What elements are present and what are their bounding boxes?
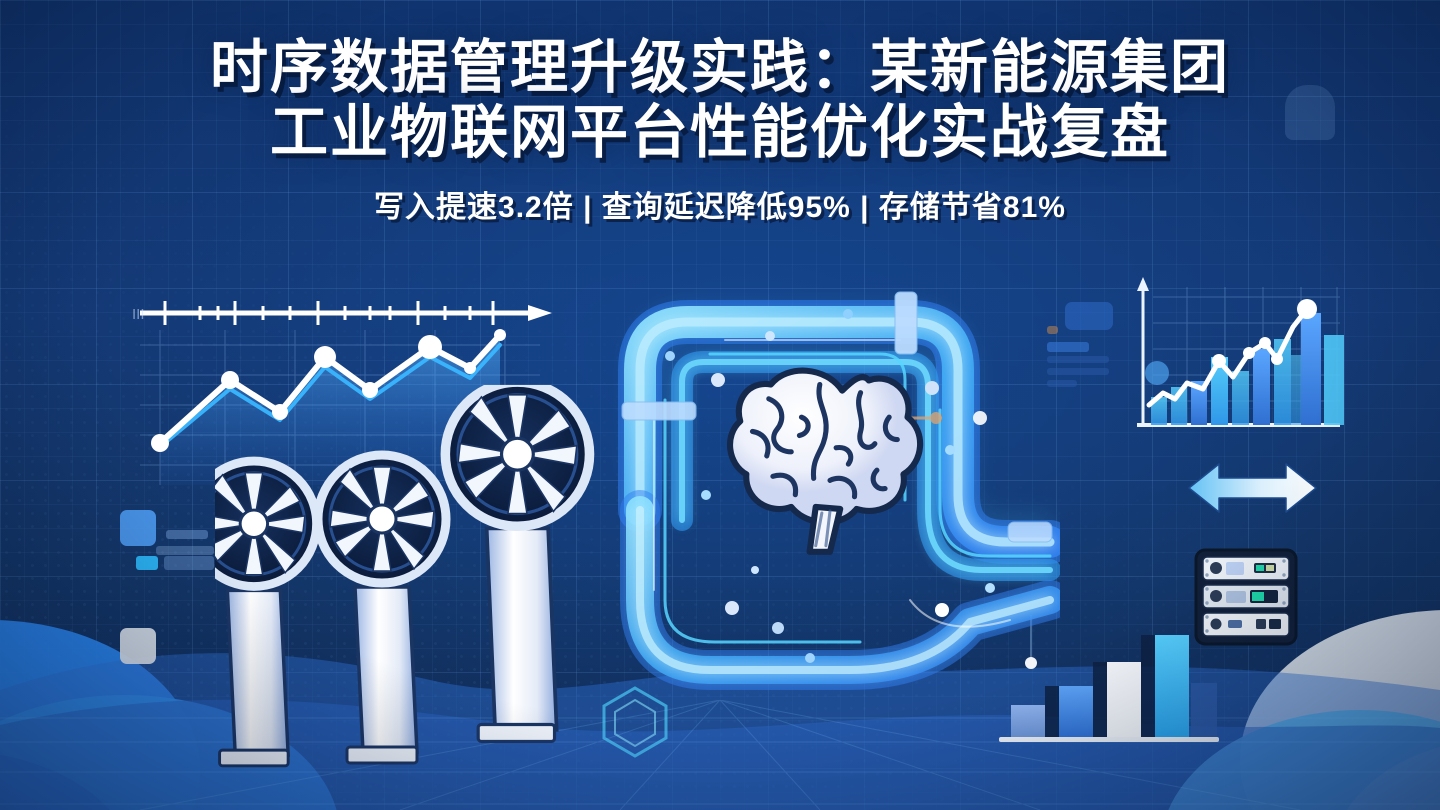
- wind-turbine-group: [215, 385, 635, 770]
- ghost-bar: [166, 530, 208, 539]
- right-combo-chart: [1125, 265, 1395, 450]
- ghost-bar: [156, 546, 214, 555]
- page-title-line-1: 时序数据管理升级实践：某新能源集团: [0, 36, 1440, 101]
- ghost-thumb: [1065, 302, 1113, 330]
- ghost-bar: [164, 556, 214, 570]
- server-unit: [1203, 585, 1289, 608]
- poster-canvas: 时序数据管理升级实践：某新能源集团 工业物联网平台性能优化实战复盘 写入提速3.…: [0, 0, 1440, 810]
- ghost-tile: [120, 510, 156, 546]
- page-title-line-2: 工业物联网平台性能优化实战复盘: [0, 101, 1440, 166]
- bar: [1059, 686, 1093, 737]
- ghost-bar: [136, 556, 158, 570]
- sync-arrow-icon: [1185, 455, 1320, 525]
- hex-glow-decoration: [590, 680, 680, 760]
- server-unit: [1203, 557, 1289, 580]
- bar: [1107, 662, 1141, 737]
- left-chart-axis: III: [132, 301, 552, 325]
- wind-turbine: [215, 461, 317, 766]
- bar: [1155, 635, 1189, 737]
- wind-turbine: [445, 385, 589, 741]
- ghost-tile-white: [120, 628, 156, 664]
- bar-chart-baseline: [999, 737, 1219, 742]
- svg-text:III: III: [132, 306, 145, 323]
- right-chart-glow-dot: [1145, 361, 1169, 385]
- bar: [1191, 683, 1217, 737]
- data-pipeline-brain: [610, 270, 1060, 730]
- wind-turbine: [318, 455, 446, 763]
- right-chart-bars: [1151, 313, 1344, 425]
- brain-icon: [730, 371, 920, 552]
- poster-header: 时序数据管理升级实践：某新能源集团 工业物联网平台性能优化实战复盘 写入提速3.…: [0, 36, 1440, 226]
- page-subtitle-metrics: 写入提速3.2倍 | 查询延迟降低95% | 存储节省81%: [0, 182, 1440, 226]
